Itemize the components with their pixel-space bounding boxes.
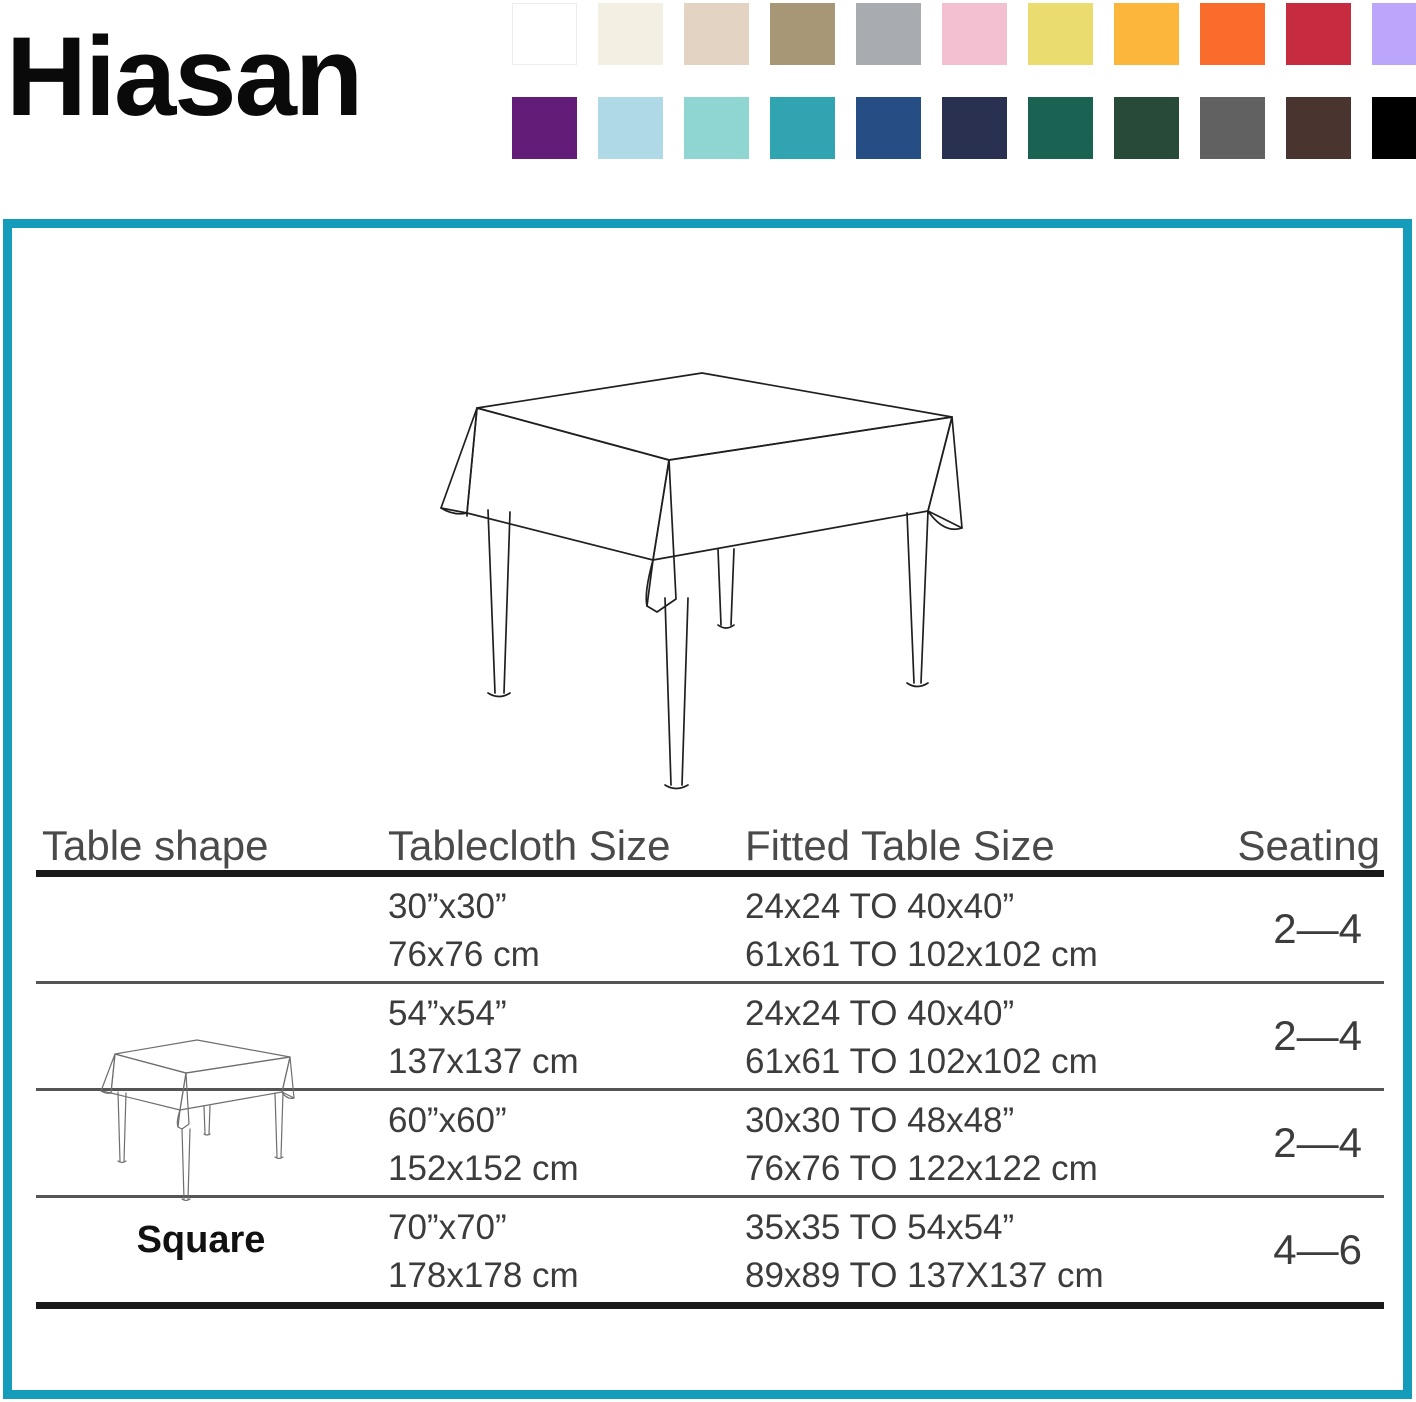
color-swatch-dark-navy[interactable] (942, 97, 1007, 159)
table-body: Square 30”x30” 76x76 cm 24x24 TO 40x40” … (36, 877, 1384, 1302)
size-spec-table: Table shape Tablecloth Size Fitted Table… (36, 808, 1384, 1309)
cell-fitted-size-in: 24x24 TO 40x40” (745, 887, 1014, 927)
color-swatch-grey[interactable] (856, 3, 921, 65)
cell-fitted-size-cm: 76x76 TO 122x122 cm (745, 1149, 1098, 1189)
swatch-row-2 (512, 97, 1412, 159)
color-swatch-black[interactable] (1372, 97, 1416, 159)
cell-tablecloth-size-in: 70”x70” (388, 1208, 507, 1248)
color-swatch-light-blue[interactable] (598, 97, 663, 159)
cell-tablecloth-size-cm: 137x137 cm (388, 1042, 579, 1082)
cell-tablecloth-size-in: 30”x30” (388, 887, 507, 927)
cell-tablecloth-size-cm: 178x178 cm (388, 1256, 579, 1296)
color-swatch-aqua[interactable] (684, 97, 749, 159)
cell-tablecloth-size-in: 54”x54” (388, 994, 507, 1034)
color-swatch-navy-blue[interactable] (856, 97, 921, 159)
color-swatch-red[interactable] (1286, 3, 1351, 65)
cell-fitted-size-cm: 89x89 TO 137X137 cm (745, 1256, 1104, 1296)
bordered-panel: Table shape Tablecloth Size Fitted Table… (3, 219, 1412, 1399)
cell-fitted-size-in: 24x24 TO 40x40” (745, 994, 1014, 1034)
color-swatch-gold[interactable] (1114, 3, 1179, 65)
product-spec-infographic: Hiasan (0, 0, 1416, 1402)
color-swatch-ivory[interactable] (598, 3, 663, 65)
cell-fitted-size-cm: 61x61 TO 102x102 cm (745, 1042, 1098, 1082)
brand-logo: Hiasan (6, 12, 476, 142)
table-row: 70”x70” 178x178 cm 35x35 TO 54x54” 89x89… (36, 1198, 1384, 1302)
table-row: 54”x54” 137x137 cm 24x24 TO 40x40” 61x61… (36, 984, 1384, 1088)
cell-tablecloth-size-cm: 152x152 cm (388, 1149, 579, 1189)
color-swatch-brown[interactable] (1286, 97, 1351, 159)
color-swatch-beige[interactable] (684, 3, 749, 65)
cell-tablecloth-size-cm: 76x76 cm (388, 935, 540, 975)
square-table-illustration (425, 353, 1000, 813)
cell-seating: 4—6 (1273, 1226, 1362, 1274)
table-row: 30”x30” 76x76 cm 24x24 TO 40x40” 61x61 T… (36, 877, 1384, 981)
swatch-row-1 (512, 3, 1412, 65)
cell-seating: 2—4 (1273, 1119, 1362, 1167)
cell-seating: 2—4 (1273, 1012, 1362, 1060)
cell-fitted-size-cm: 61x61 TO 102x102 cm (745, 935, 1098, 975)
color-swatch-white[interactable] (512, 3, 577, 65)
table-row: 60”x60” 152x152 cm 30x30 TO 48x48” 76x76… (36, 1091, 1384, 1195)
cell-seating: 2—4 (1273, 905, 1362, 953)
color-swatch-forest-green[interactable] (1114, 97, 1179, 159)
color-swatch-taupe[interactable] (770, 3, 835, 65)
color-swatch-orange[interactable] (1200, 3, 1265, 65)
cell-fitted-size-in: 35x35 TO 54x54” (745, 1208, 1014, 1248)
column-header-seating: Seating (1238, 822, 1380, 870)
color-swatch-emerald[interactable] (1028, 97, 1093, 159)
column-header-fitted-table-size: Fitted Table Size (745, 822, 1055, 870)
table-header-row: Table shape Tablecloth Size Fitted Table… (36, 808, 1384, 870)
color-swatch-pink[interactable] (942, 3, 1007, 65)
color-swatch-dark-grey[interactable] (1200, 97, 1265, 159)
cell-tablecloth-size-in: 60”x60” (388, 1101, 507, 1141)
color-swatch-purple[interactable] (512, 97, 577, 159)
column-header-table-shape: Table shape (42, 822, 269, 870)
column-header-tablecloth-size: Tablecloth Size (388, 822, 671, 870)
table-bottom-divider (36, 1302, 1384, 1309)
color-swatch-yellow[interactable] (1028, 3, 1093, 65)
color-swatch-palette (512, 3, 1412, 163)
color-swatch-lavender[interactable] (1372, 3, 1416, 65)
color-swatch-teal[interactable] (770, 97, 835, 159)
header-divider (36, 870, 1384, 877)
cell-fitted-size-in: 30x30 TO 48x48” (745, 1101, 1014, 1141)
